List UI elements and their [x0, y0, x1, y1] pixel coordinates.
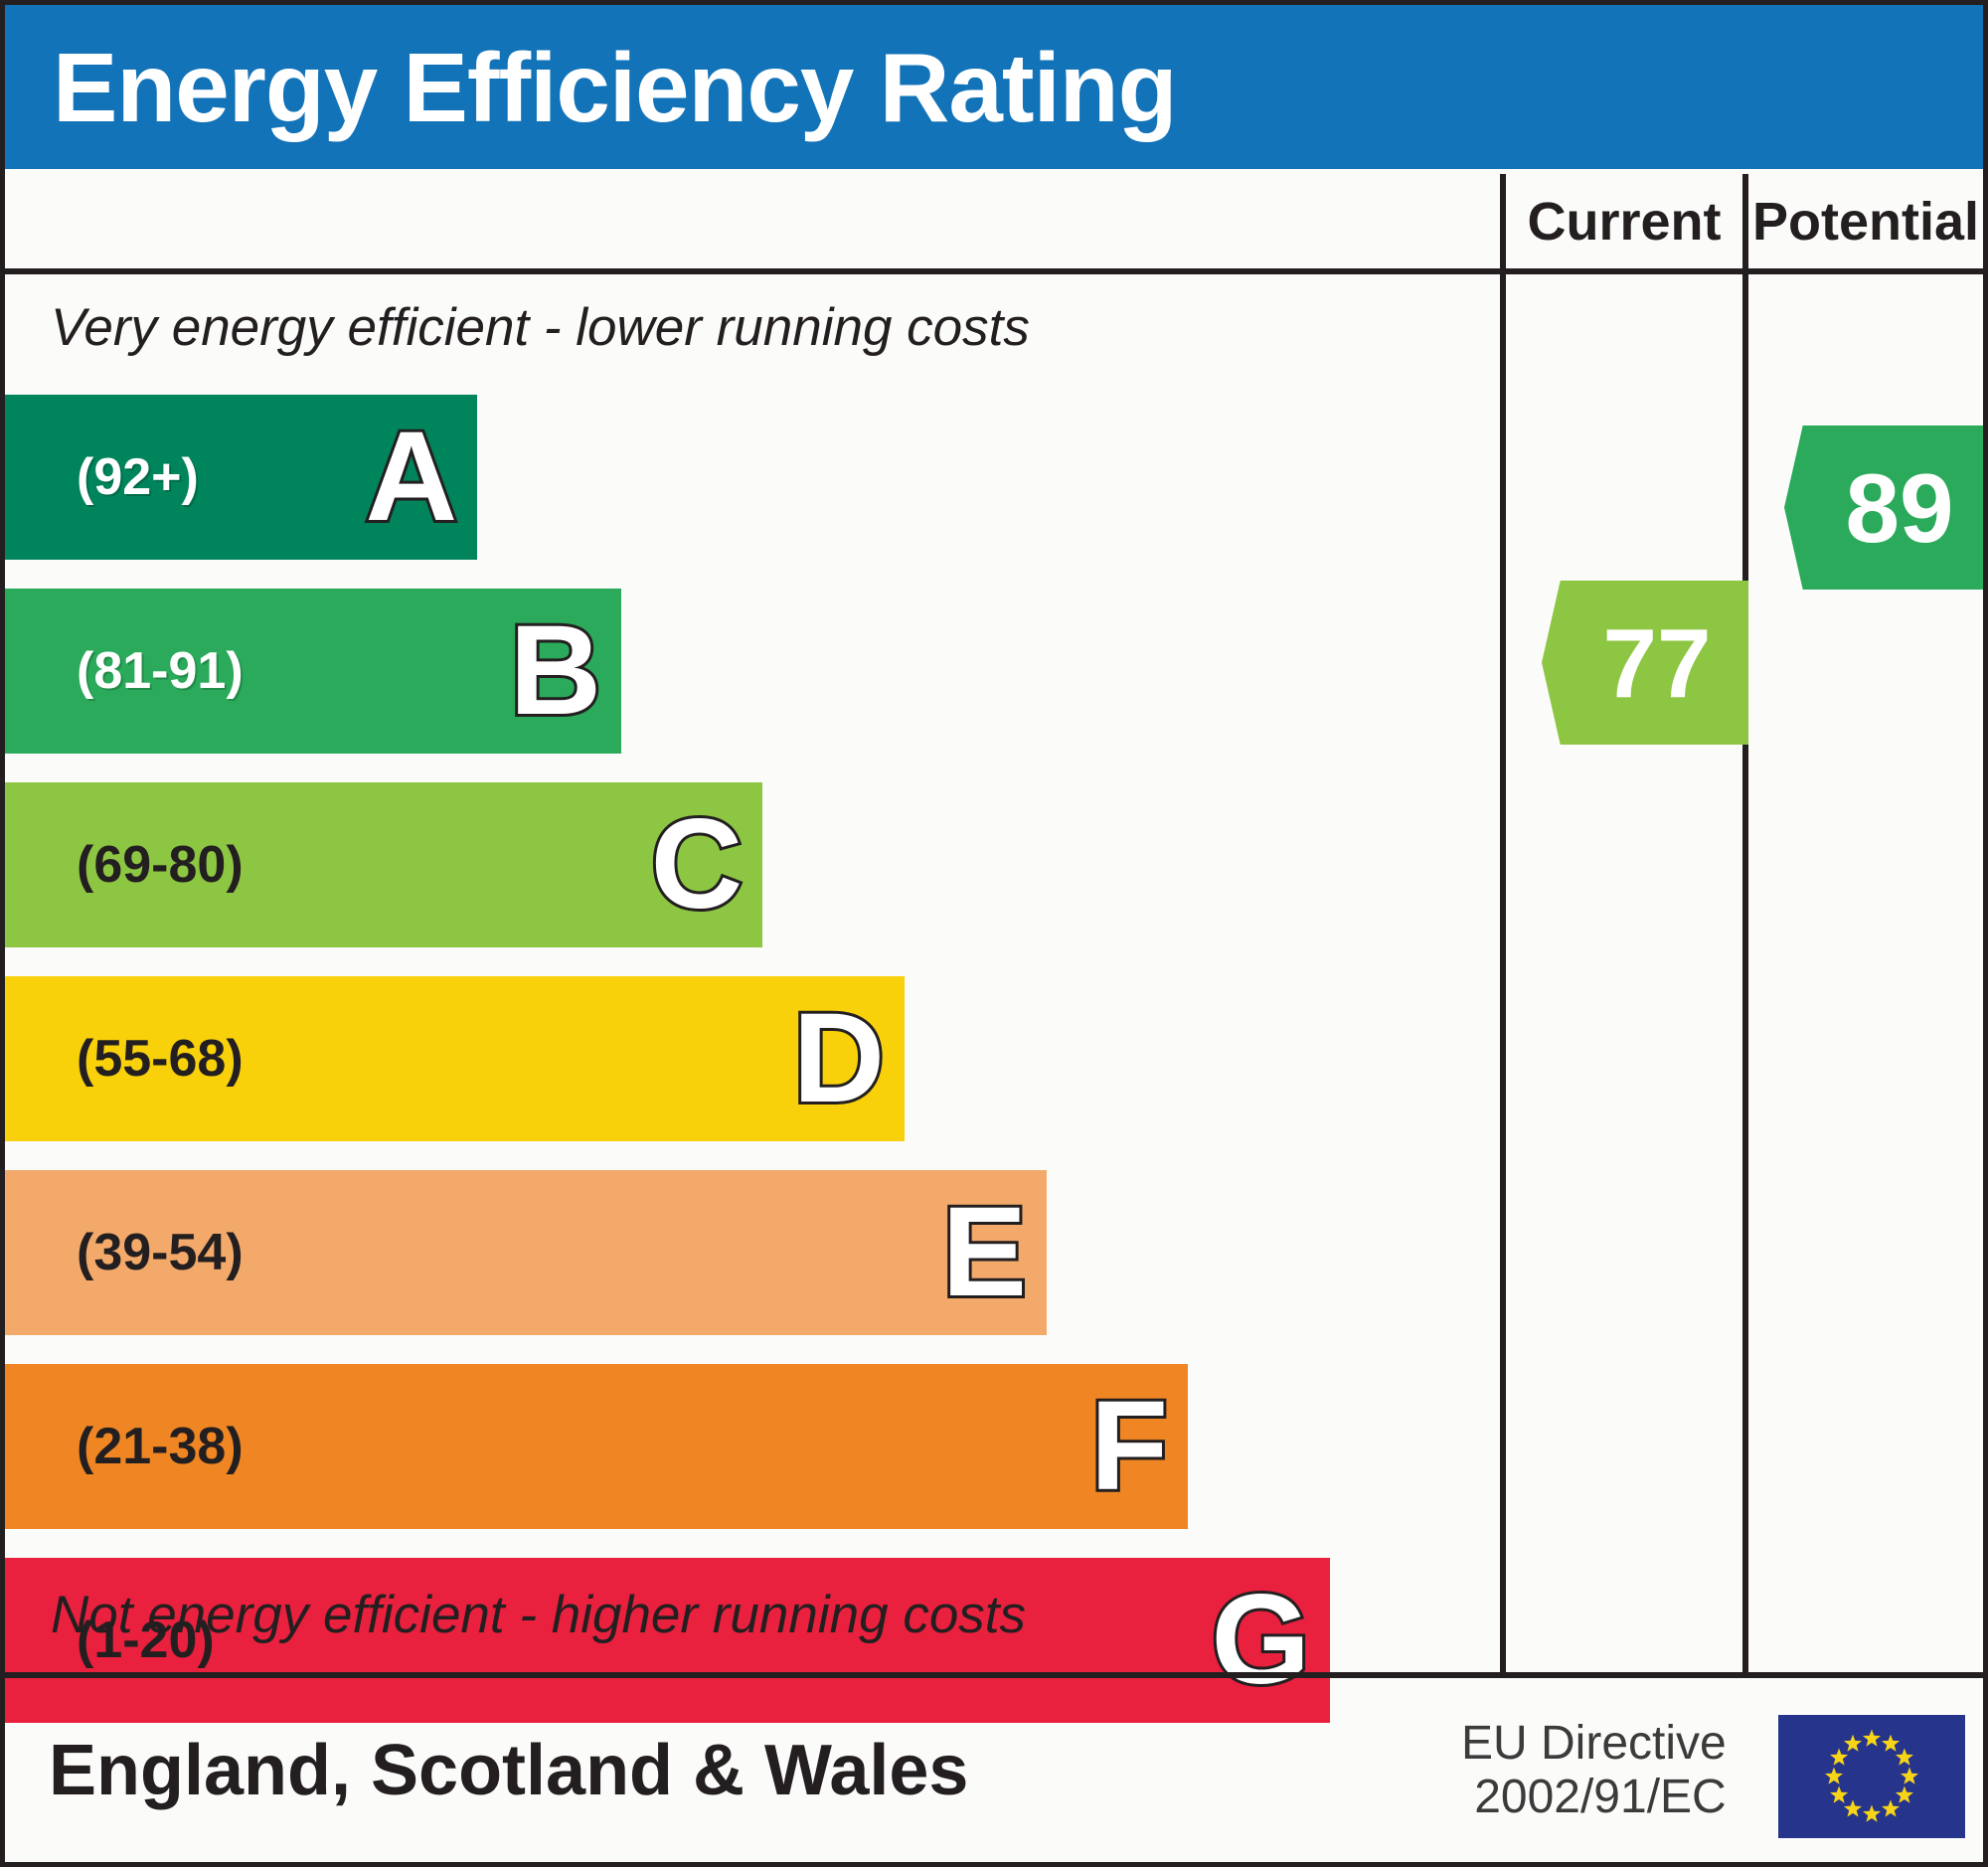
band-bar-a: (92+)A	[5, 395, 477, 560]
band-row: (92+)A	[5, 389, 1486, 583]
band-range-label: (39-54)	[77, 1227, 244, 1278]
chart-body: Very energy efficient - lower running co…	[5, 274, 1983, 1672]
chart-footer: England, Scotland & Wales EU Directive 2…	[5, 1678, 1983, 1862]
band-letter-a: A	[366, 414, 455, 541]
directive-line-1: EU Directive	[1461, 1717, 1727, 1771]
directive-line-2: 2002/91/EC	[1461, 1771, 1727, 1824]
band-range-label: (81-91)	[77, 645, 244, 697]
band-row: (21-38)F	[5, 1358, 1486, 1552]
band-bar-c: (69-80)C	[5, 782, 762, 947]
footer-region-label: England, Scotland & Wales	[49, 1735, 968, 1806]
band-row: (39-54)E	[5, 1164, 1486, 1358]
band-range-label: (55-68)	[77, 1033, 244, 1085]
current-rating-marker: 77	[1542, 581, 1748, 745]
column-divider-potential	[1742, 274, 1748, 1672]
band-bars: (92+)A(81-91)B(69-80)C(55-68)D(39-54)E(2…	[5, 389, 1486, 1746]
band-row: (55-68)D	[5, 970, 1486, 1164]
caption-not-efficient: Not energy efficient - higher running co…	[51, 1585, 1026, 1645]
band-letter-e: E	[942, 1189, 1025, 1316]
page-title: Energy Efficiency Rating	[5, 39, 1177, 136]
column-header-current: Current	[1500, 174, 1742, 268]
band-bar-f: (21-38)F	[5, 1364, 1188, 1529]
band-letter-d: D	[793, 995, 883, 1122]
potential-rating-marker: 89	[1784, 425, 1988, 590]
band-range-label: (69-80)	[77, 839, 244, 891]
footer-directive-text: EU Directive 2002/91/EC	[1461, 1717, 1727, 1824]
energy-efficiency-rating-chart: Energy Efficiency Rating Current Potenti…	[0, 0, 1988, 1867]
band-range-label: (21-38)	[77, 1421, 244, 1472]
caption-efficient: Very energy efficient - lower running co…	[51, 297, 1030, 358]
column-divider-current	[1500, 274, 1506, 1672]
band-bar-e: (39-54)E	[5, 1170, 1047, 1335]
current-rating-value: 77	[1602, 614, 1711, 712]
band-row: (69-80)C	[5, 776, 1486, 970]
band-bar-b: (81-91)B	[5, 589, 621, 754]
band-letter-f: F	[1090, 1383, 1166, 1510]
column-header-potential: Potential	[1742, 174, 1983, 268]
band-letter-c: C	[651, 801, 741, 929]
band-letter-b: B	[510, 607, 599, 735]
column-header-row: Current Potential	[5, 174, 1983, 268]
eu-flag-icon	[1777, 1714, 1966, 1839]
band-bar-d: (55-68)D	[5, 976, 905, 1141]
band-row: (81-91)B	[5, 583, 1486, 776]
chart-title-bar: Energy Efficiency Rating	[5, 5, 1988, 169]
potential-rating-value: 89	[1845, 459, 1953, 557]
band-range-label: (92+)	[77, 451, 199, 503]
